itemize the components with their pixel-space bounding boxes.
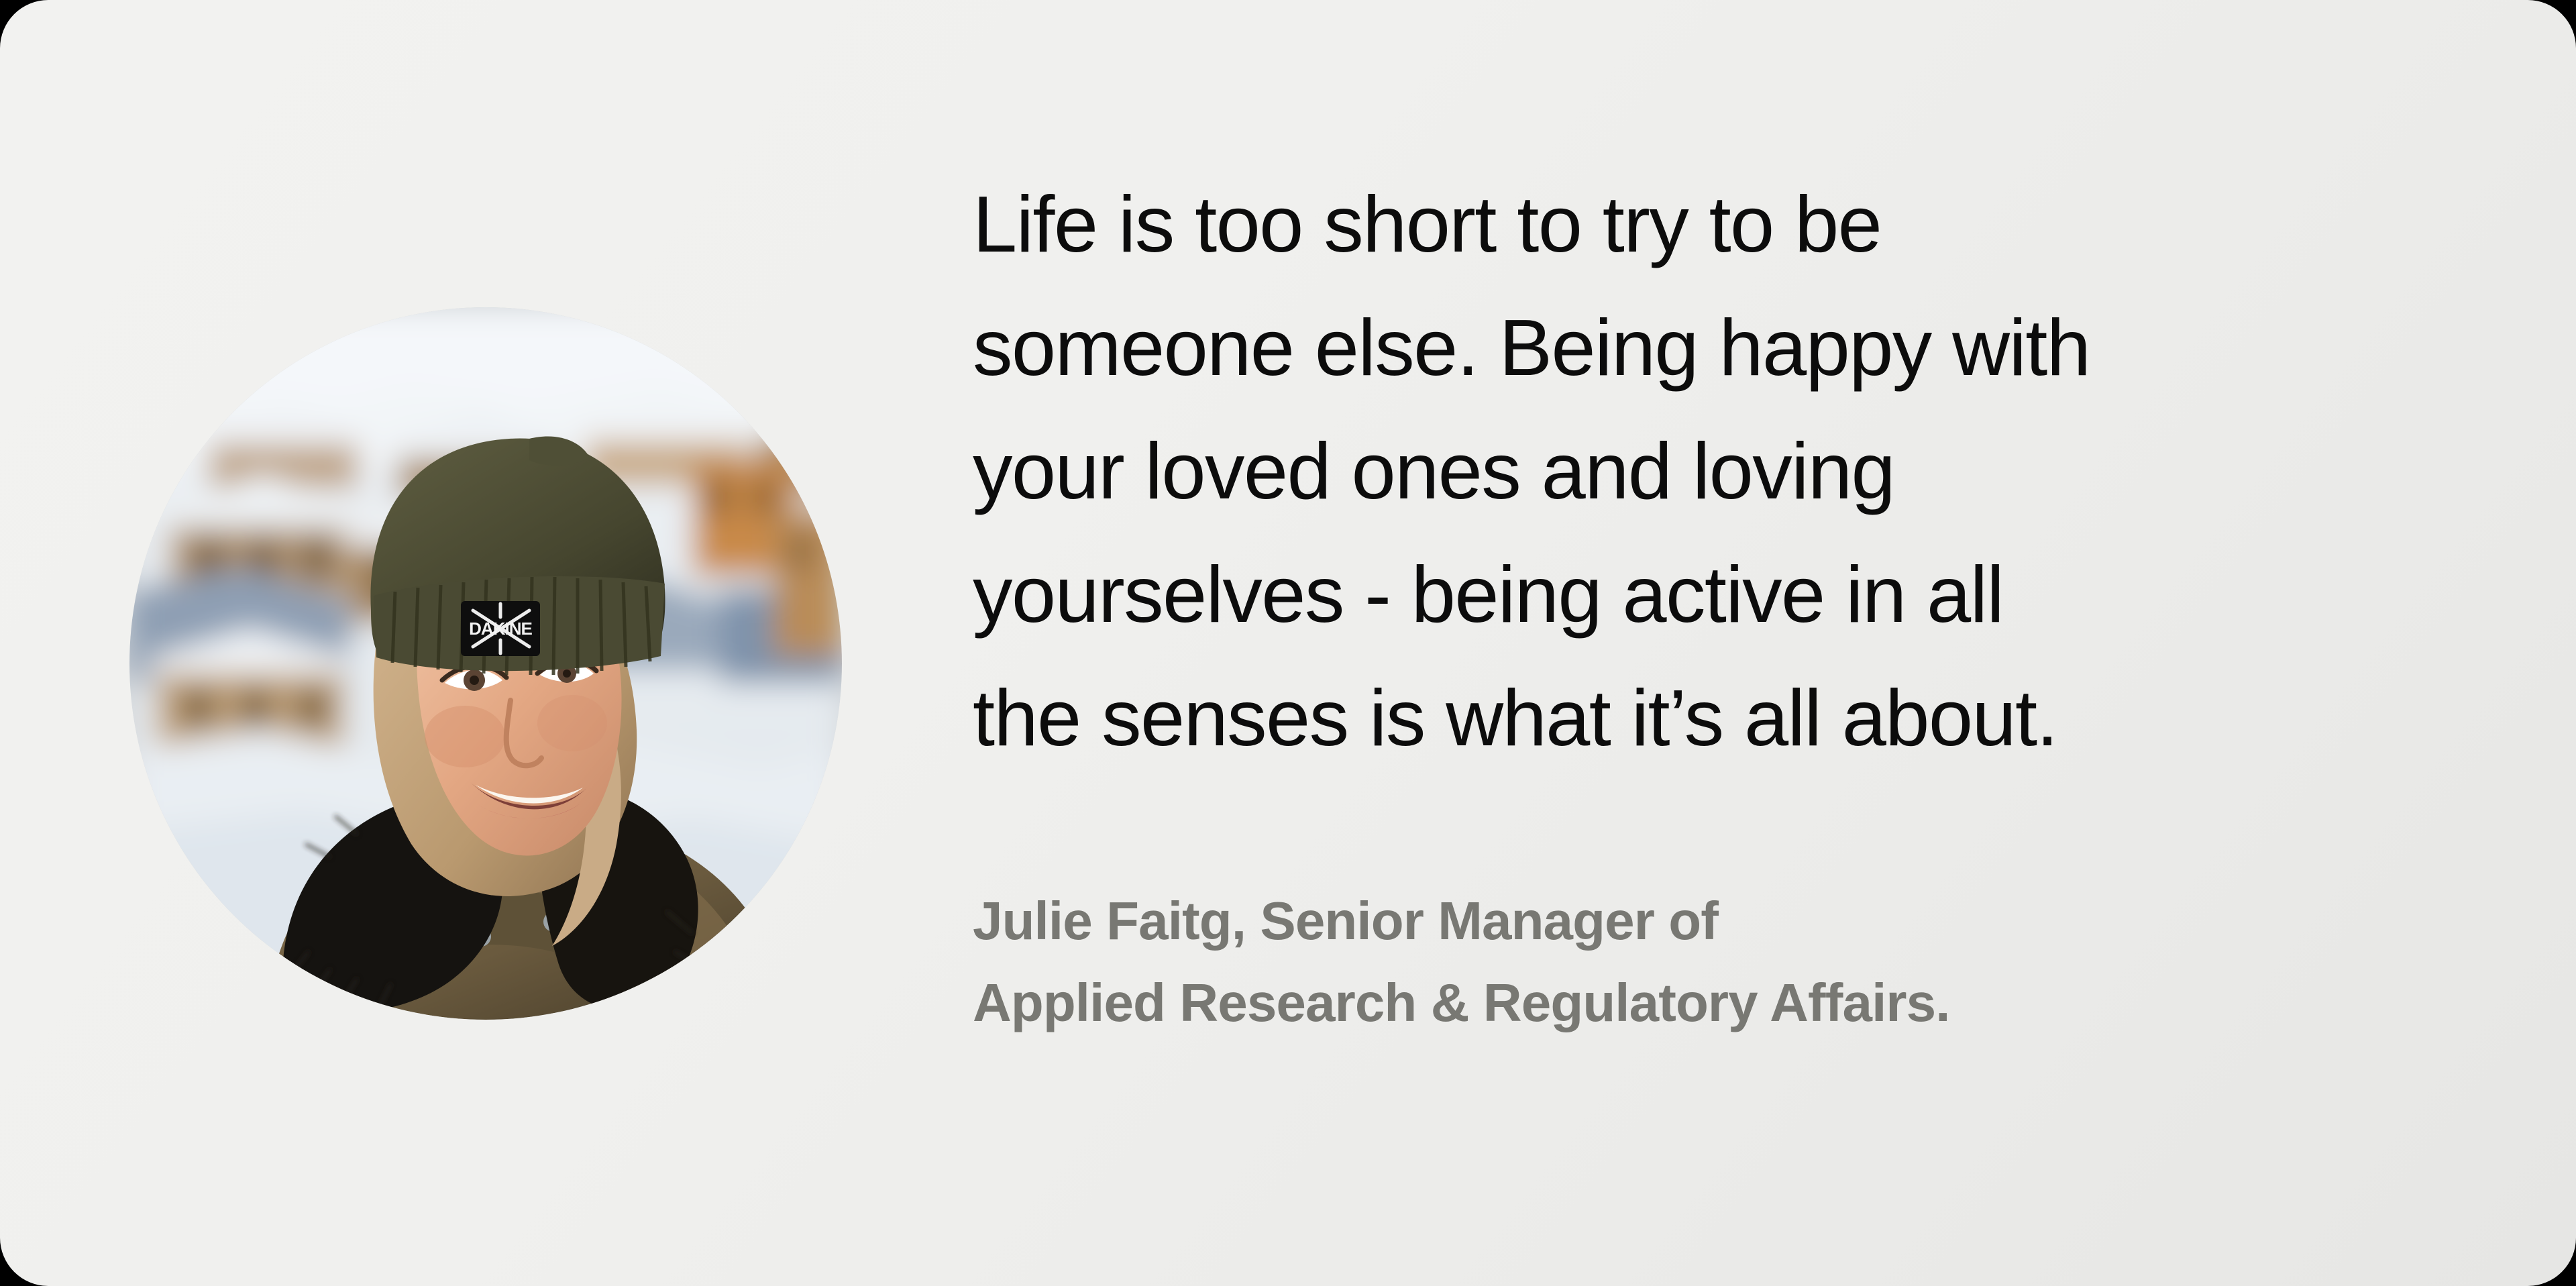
svg-text:DAKINE: DAKINE: [469, 619, 532, 639]
attribution-text: Julie Faitg, Senior Manager of Applied R…: [973, 880, 2475, 1044]
text-column: Life is too short to try to be someone e…: [973, 0, 2576, 1286]
quote-text: Life is too short to try to be someone e…: [973, 163, 2475, 780]
avatar-column: DAKINE: [0, 0, 973, 1286]
avatar: DAKINE: [129, 307, 842, 1020]
testimonial-card: DAKINE Life is too short to try to be so…: [0, 0, 2576, 1286]
